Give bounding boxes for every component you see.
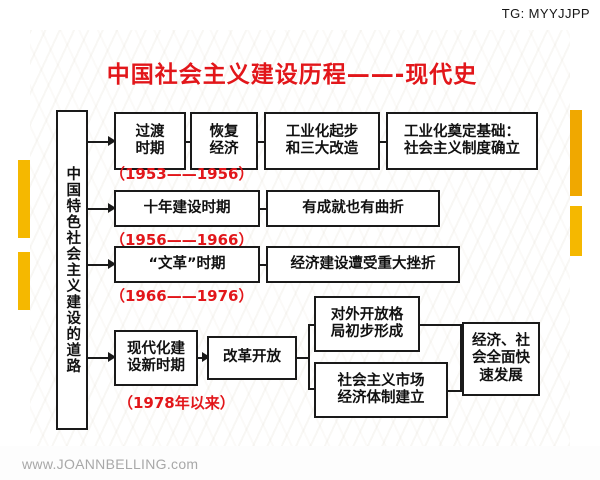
box-row1-result: 工业化奠定基础： 社会主义制度确立 [386, 112, 538, 170]
connector-spine-to-row4 [88, 357, 110, 359]
slide-canvas: TG: MYYJJPP 中国社会主义建设历程——-现代史 中国特色社会主义建设的… [0, 0, 600, 480]
box-row4-reform: 改革开放 [207, 336, 297, 380]
year-label-row1: （1953——1956） [110, 163, 254, 184]
decorative-bar-left-bottom [18, 252, 30, 310]
box-row1-industrialization: 工业化起步 和三大改造 [264, 112, 380, 170]
box-row3-result: 经济建设遭受重大挫折 [266, 246, 460, 283]
connector-spine-to-row3 [88, 264, 110, 266]
decorative-bar-left-top [18, 160, 30, 238]
connector-row4-branch-vertical [308, 324, 310, 390]
box-row1-recovery: 恢复 经济 [190, 112, 258, 170]
connector-spine-to-row1 [88, 141, 110, 143]
connector-row4-merge-top [420, 324, 462, 326]
connector-row4-merge-bottom [448, 390, 462, 392]
year-label-row4: （1978年以来） [118, 392, 235, 413]
box-row3-stage: “文革”时期 [114, 246, 260, 283]
box-row4-opening: 对外开放格 局初步形成 [314, 296, 420, 352]
box-row4-stage: 现代化建 设新时期 [114, 330, 198, 386]
box-row1-stage: 过渡 时期 [114, 112, 186, 170]
tg-watermark: TG: MYYJJPP [490, 0, 600, 28]
decorative-bar-right-bottom [570, 206, 582, 256]
connector-spine-to-row2 [88, 208, 110, 210]
spine-box-path: 中国特色社会主义建设的道路 [56, 110, 88, 430]
box-row4-market-economy: 社会主义市场 经济体制建立 [314, 362, 448, 418]
spine-box-label: 中国特色社会主义建设的道路 [65, 166, 80, 374]
page-title: 中国社会主义建设历程——-现代史 [62, 55, 522, 89]
url-watermark: www.JOANNBELLING.com [22, 456, 198, 472]
year-label-row3: （1966——1976） [110, 285, 254, 306]
box-row4-final: 经济、社 会全面快 速发展 [462, 322, 540, 396]
box-row2-result: 有成就也有曲折 [266, 190, 440, 227]
decorative-bar-right-top [570, 110, 582, 196]
box-row2-stage: 十年建设时期 [114, 190, 260, 227]
